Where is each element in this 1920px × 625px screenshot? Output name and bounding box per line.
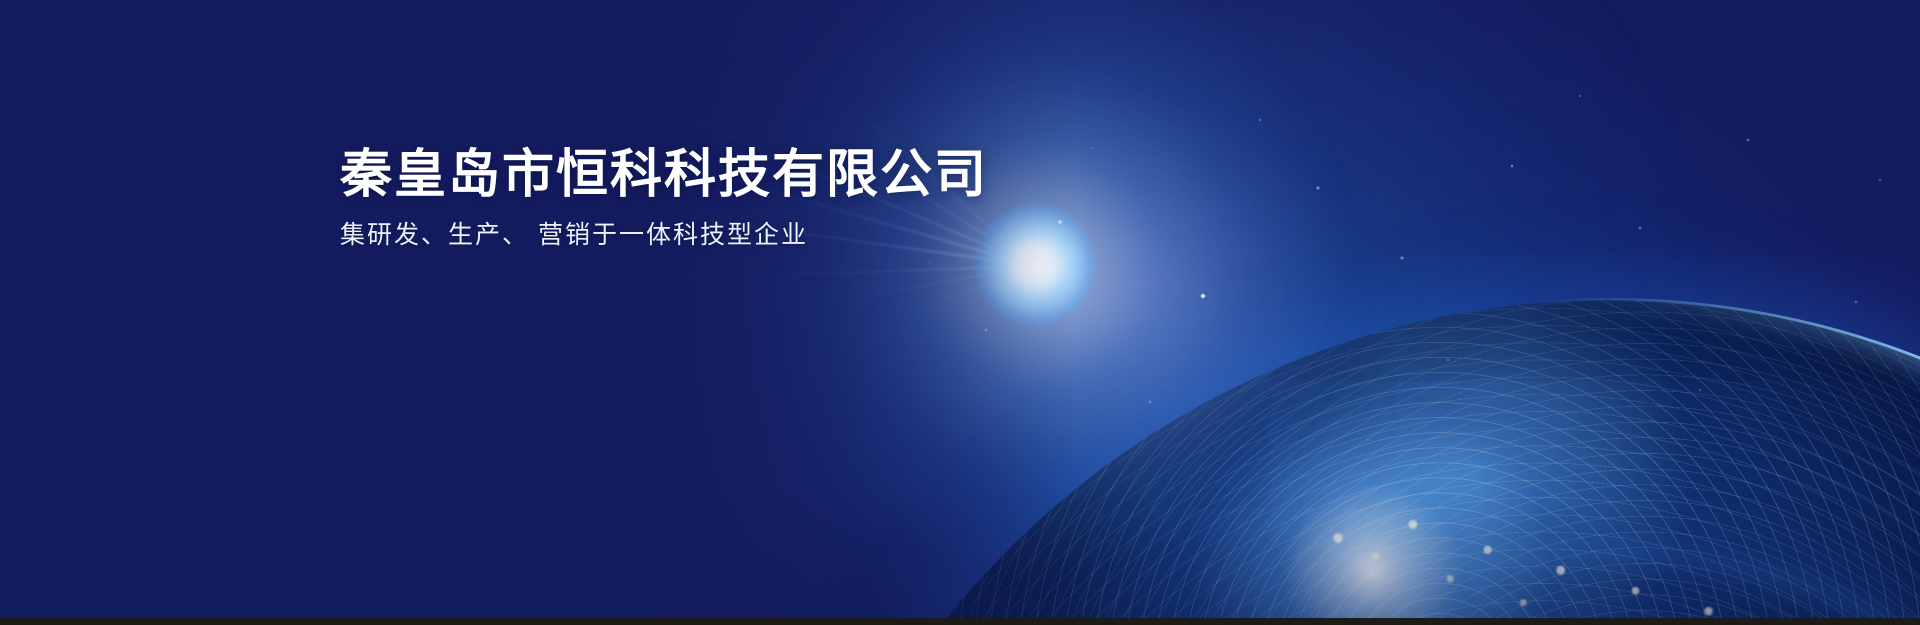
company-title: 秦皇岛市恒科科技有限公司 xyxy=(340,146,988,204)
sun-flare-core xyxy=(975,205,1095,325)
bottom-strip xyxy=(0,618,1920,625)
hero-banner: 秦皇岛市恒科科技有限公司 集研发、生产、 营销于一体科技型企业 xyxy=(0,0,1920,625)
company-tagline: 集研发、生产、 营销于一体科技型企业 xyxy=(340,218,988,252)
hero-text-block: 秦皇岛市恒科科技有限公司 集研发、生产、 营销于一体科技型企业 xyxy=(340,146,988,252)
